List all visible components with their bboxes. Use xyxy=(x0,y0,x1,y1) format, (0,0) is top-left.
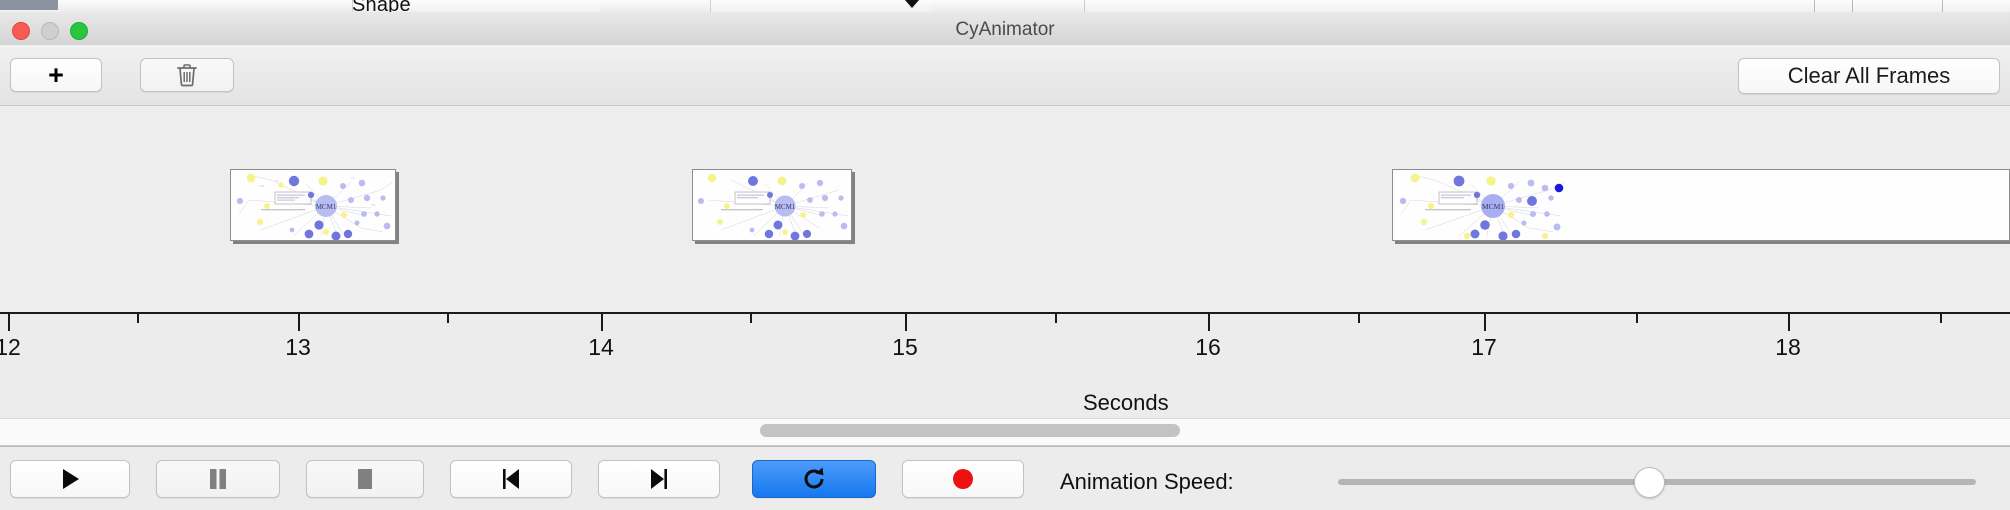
axis-line xyxy=(0,312,2010,314)
pause-icon xyxy=(208,467,228,491)
trash-icon xyxy=(176,63,198,87)
background-window-column-label: Shape xyxy=(352,0,411,12)
svg-text:YDR: YDR xyxy=(259,185,264,188)
axis-tick-major xyxy=(905,314,907,331)
clear-all-frames-label: Clear All Frames xyxy=(1788,63,1951,89)
cyanimator-window: Shape CyAnimator + Clear All Frames xyxy=(0,0,2010,510)
axis-tick-major xyxy=(1484,314,1486,331)
background-sort-arrow-icon xyxy=(905,0,919,8)
skip-back-icon xyxy=(500,467,522,491)
background-window-sliver: Shape xyxy=(0,0,2010,12)
axis-tick-major xyxy=(1788,314,1790,331)
axis-title: Seconds xyxy=(1083,390,1169,416)
play-icon xyxy=(59,467,81,491)
loop-icon xyxy=(801,466,827,492)
axis-tick-label: 14 xyxy=(588,334,614,361)
axis-tick-minor xyxy=(1636,314,1638,323)
record-icon xyxy=(951,467,975,491)
delete-frame-button[interactable] xyxy=(140,58,234,92)
playback-control-bar: Animation Speed: xyxy=(0,446,2010,510)
axis-tick-minor xyxy=(1055,314,1057,323)
frames-panel[interactable]: MCM1 xyxy=(0,106,2010,312)
add-frame-button[interactable]: + xyxy=(10,58,102,92)
svg-text:STE: STE xyxy=(371,204,376,207)
axis-tick-major xyxy=(298,314,300,331)
frame-thumbnail[interactable]: MCM1 xyxy=(230,169,396,241)
axis-tick-major xyxy=(8,314,10,331)
svg-text:MCM1: MCM1 xyxy=(316,203,337,211)
play-button[interactable] xyxy=(10,460,130,498)
svg-text:YKL: YKL xyxy=(351,177,356,180)
axis-tick-label: 15 xyxy=(892,334,918,361)
clear-all-frames-button[interactable]: Clear All Frames xyxy=(1738,58,2000,94)
svg-text:MCM1: MCM1 xyxy=(1482,202,1504,211)
toolbar: + Clear All Frames xyxy=(0,45,2010,106)
svg-text:YPL: YPL xyxy=(275,180,280,183)
axis-tick-minor xyxy=(447,314,449,323)
record-button[interactable] xyxy=(902,460,1024,498)
plus-icon: + xyxy=(48,62,64,89)
timeline-axis[interactable]: 12 13 14 15 16 17 18 Seconds xyxy=(0,312,2010,420)
previous-frame-button[interactable] xyxy=(450,460,572,498)
loop-button[interactable] xyxy=(752,460,876,498)
axis-tick-minor xyxy=(1940,314,1942,323)
axis-tick-major xyxy=(601,314,603,331)
scrollbar-thumb[interactable] xyxy=(760,424,1180,437)
animation-speed-slider-thumb[interactable] xyxy=(1634,467,1665,498)
axis-tick-label: 17 xyxy=(1471,334,1497,361)
axis-tick-minor xyxy=(1358,314,1360,323)
axis-tick-label: 16 xyxy=(1195,334,1221,361)
next-frame-button[interactable] xyxy=(598,460,720,498)
axis-tick-label: 18 xyxy=(1775,334,1801,361)
axis-tick-label: 13 xyxy=(285,334,311,361)
axis-tick-minor xyxy=(750,314,752,323)
axis-tick-label: 12 xyxy=(0,334,21,361)
background-window-titlebar-fragment xyxy=(0,0,58,10)
stop-icon xyxy=(355,467,375,491)
axis-tick-minor xyxy=(137,314,139,323)
frame-thumbnail[interactable]: MCM1 xyxy=(1392,169,2010,241)
pause-button[interactable] xyxy=(156,460,280,498)
title-bar: CyAnimator xyxy=(0,12,2010,46)
animation-speed-label: Animation Speed: xyxy=(1060,469,1234,495)
skip-forward-icon xyxy=(648,467,670,491)
axis-tick-major xyxy=(1208,314,1210,331)
window-title: CyAnimator xyxy=(0,19,2010,41)
svg-text:MCM1: MCM1 xyxy=(775,203,796,211)
frame-thumbnail[interactable]: MCM1 xyxy=(692,169,852,241)
stop-button[interactable] xyxy=(306,460,424,498)
